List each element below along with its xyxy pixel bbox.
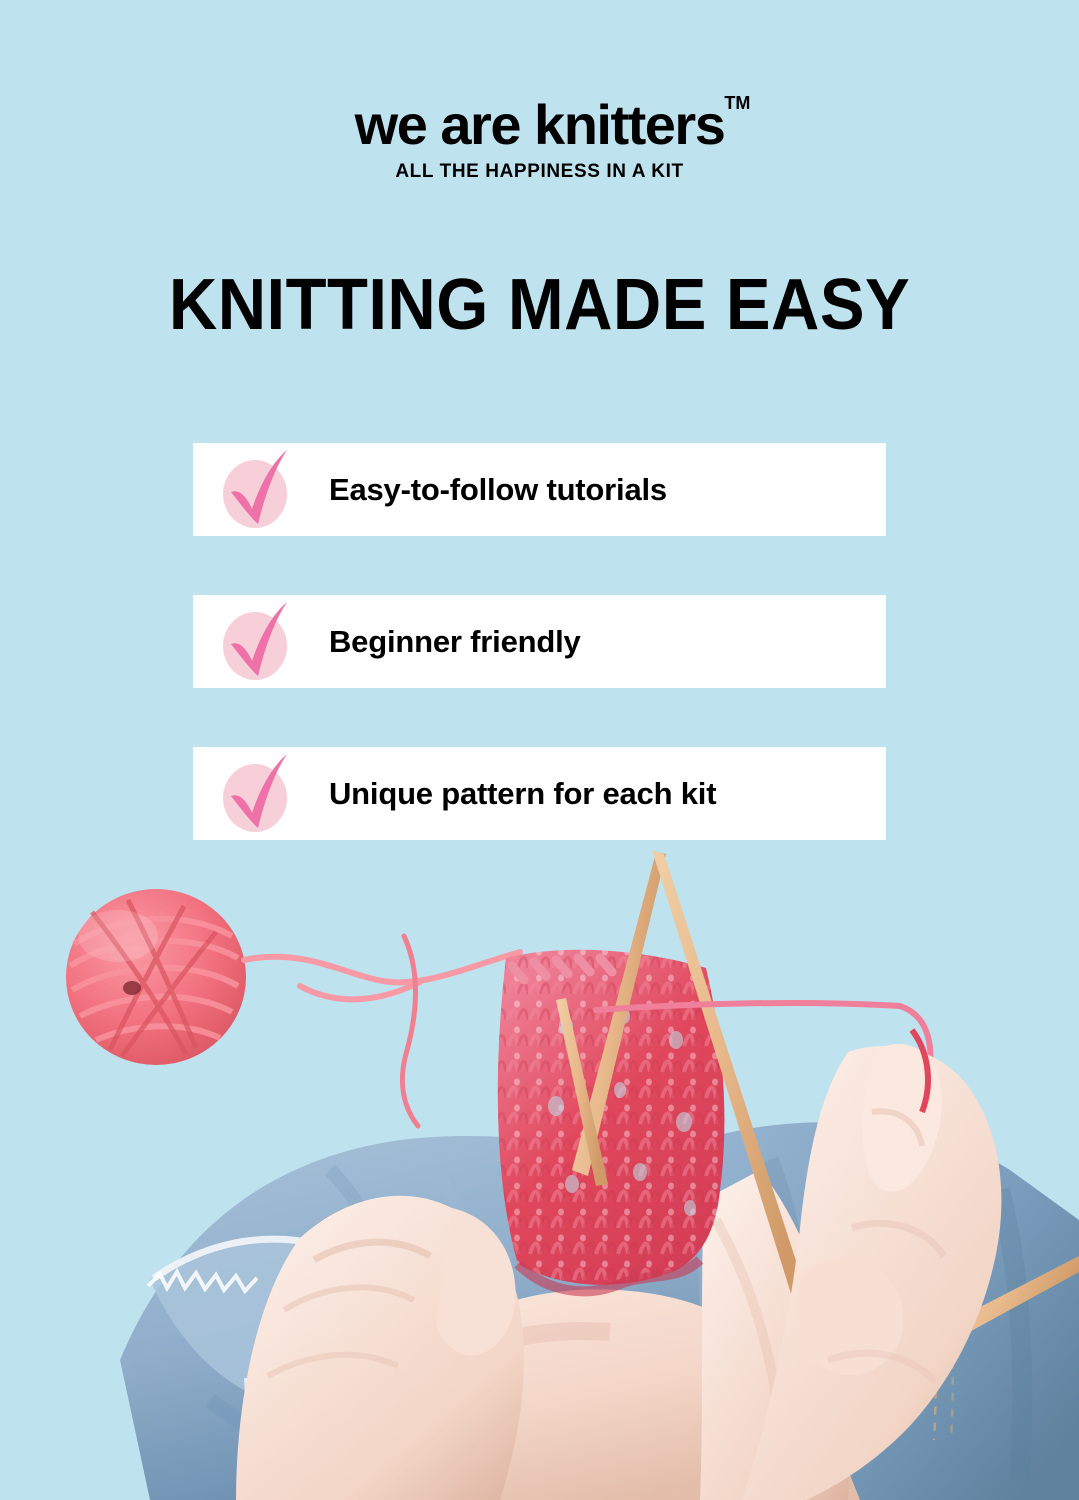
list-item: Easy-to-follow tutorials	[193, 443, 886, 536]
feature-list: Easy-to-follow tutorials Beginner friend…	[193, 443, 886, 899]
pink-check-icon	[221, 595, 293, 688]
knitting-photo	[0, 840, 1079, 1500]
brand-block: we are knittersTM ALL THE HAPPINESS IN A…	[0, 96, 1079, 183]
list-item-label: Unique pattern for each kit	[329, 776, 716, 812]
brand-name-text: we are knitters	[355, 93, 725, 156]
list-item: Unique pattern for each kit	[193, 747, 886, 840]
list-item-label: Beginner friendly	[329, 624, 581, 660]
list-item-label: Easy-to-follow tutorials	[329, 472, 667, 508]
brand-logo: we are knittersTM	[355, 96, 725, 154]
pink-check-icon	[221, 443, 293, 536]
poster-canvas: we are knittersTM ALL THE HAPPINESS IN A…	[0, 0, 1079, 1500]
brand-tagline: ALL THE HAPPINESS IN A KIT	[0, 161, 1079, 183]
page-title: KNITTING MADE EASY	[38, 268, 1041, 342]
pink-check-icon	[221, 747, 293, 840]
trademark-icon: TM	[724, 94, 750, 112]
list-item: Beginner friendly	[193, 595, 886, 688]
yarn-ball	[66, 889, 246, 1065]
